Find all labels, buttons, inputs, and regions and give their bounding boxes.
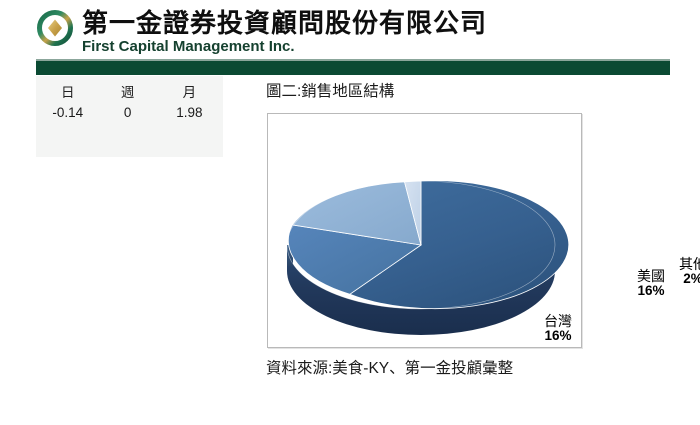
value-month: 1.98: [156, 104, 223, 124]
value-week: 0: [100, 104, 156, 124]
pie-chart-3d: [268, 114, 581, 347]
performance-stats-panel: 日 週 月 -0.14 0 1.98: [36, 76, 223, 157]
pie-label-other: 其他 2%: [672, 257, 700, 286]
pie-label-taiwan: 台灣 16%: [535, 314, 581, 343]
value-day: -0.14: [36, 104, 100, 124]
company-name-en: First Capital Management Inc.: [82, 38, 295, 55]
company-name-cn: 第一金證券投資顧問股份有限公司: [82, 8, 487, 38]
column-header-day: 日: [36, 76, 100, 104]
column-header-month: 月: [156, 76, 223, 104]
performance-table: 日 週 月 -0.14 0 1.98: [36, 76, 223, 124]
page-root: 第一金證券投資顧問股份有限公司 First Capital Management…: [0, 0, 700, 416]
table-header-row: 日 週 月: [36, 76, 223, 104]
pie-label-usa: 美國 16%: [628, 269, 674, 298]
page-header: 第一金證券投資顧問股份有限公司 First Capital Management…: [0, 0, 700, 58]
company-logo-icon: [36, 9, 74, 47]
chart-title: 圖二:銷售地區結構: [266, 79, 394, 101]
column-header-week: 週: [100, 76, 156, 104]
chart-source-note: 資料來源:美食-KY、第一金投顧彙整: [266, 356, 513, 378]
table-row: -0.14 0 1.98: [36, 104, 223, 124]
pie-chart-frame: 台灣 16% 美國 16% 其他 2% 中國大 陸 66%: [267, 113, 582, 348]
header-green-divider: [36, 61, 670, 75]
